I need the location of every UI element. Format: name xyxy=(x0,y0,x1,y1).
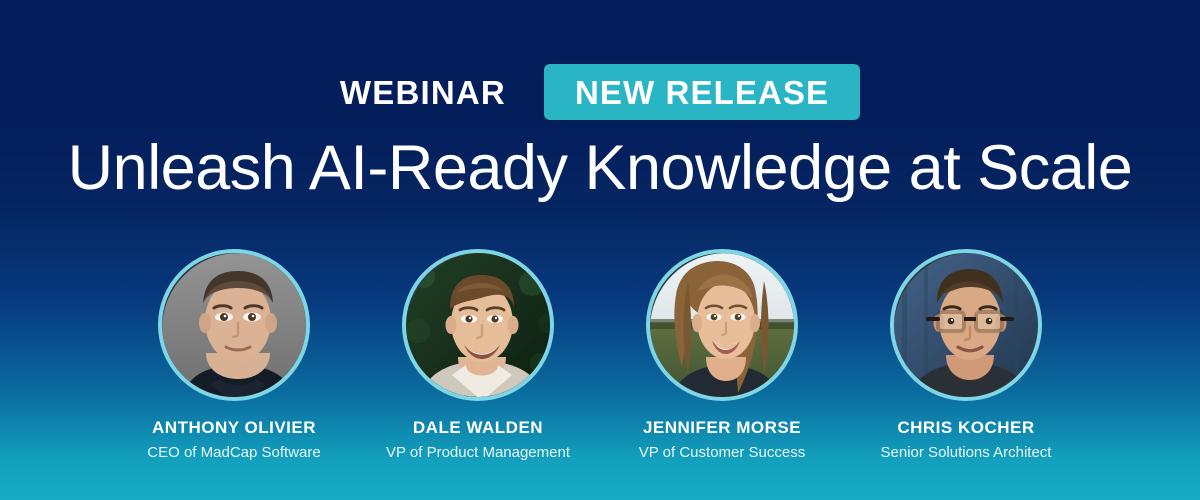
webinar-banner: WEBINAR NEW RELEASE Unleash AI-Ready Kno… xyxy=(0,0,1200,500)
speaker-card: ANTHONY OLIVIER CEO of MadCap Software xyxy=(156,249,312,460)
avatar-photo-chris-kocher xyxy=(894,253,1038,397)
speaker-name: CHRIS KOCHER xyxy=(897,419,1034,436)
speaker-name: DALE WALDEN xyxy=(413,419,543,436)
speaker-card: CHRIS KOCHER Senior Solutions Architect xyxy=(888,249,1044,460)
avatar-photo-anthony-olivier xyxy=(162,253,306,397)
avatar-photo-jennifer-morse xyxy=(650,253,794,397)
webinar-label: WEBINAR xyxy=(340,76,506,109)
speaker-card: DALE WALDEN VP of Product Management xyxy=(400,249,556,460)
avatar xyxy=(158,249,310,401)
speaker-title: VP of Customer Success xyxy=(639,445,805,460)
new-release-badge-label: NEW RELEASE xyxy=(575,76,829,109)
page-title: Unleash AI-Ready Knowledge at Scale xyxy=(0,133,1200,204)
eyebrow-row: WEBINAR NEW RELEASE xyxy=(0,64,1200,120)
new-release-badge: NEW RELEASE xyxy=(544,64,860,120)
speaker-list: ANTHONY OLIVIER CEO of MadCap Software xyxy=(0,249,1200,460)
speaker-title: VP of Product Management xyxy=(386,445,570,460)
avatar xyxy=(890,249,1042,401)
avatar-photo-dale-walden xyxy=(406,253,550,397)
speaker-title: CEO of MadCap Software xyxy=(147,445,320,460)
speaker-title: Senior Solutions Architect xyxy=(881,445,1052,460)
speaker-name: JENNIFER MORSE xyxy=(643,419,801,436)
avatar xyxy=(402,249,554,401)
avatar xyxy=(646,249,798,401)
speaker-name: ANTHONY OLIVIER xyxy=(152,419,316,436)
speaker-card: JENNIFER MORSE VP of Customer Success xyxy=(644,249,800,460)
